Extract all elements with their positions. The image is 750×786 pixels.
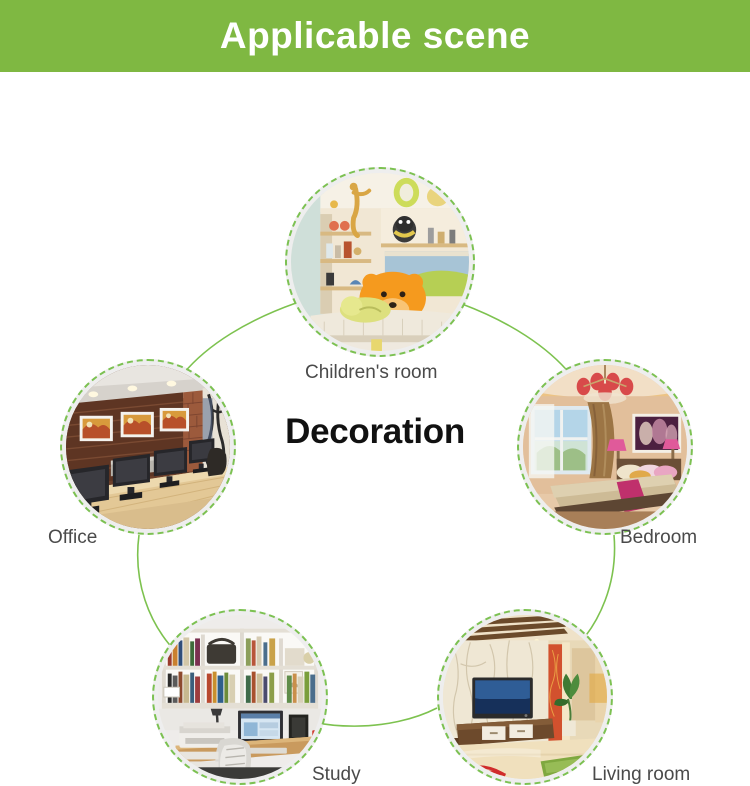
scene-node-children-room[interactable]: [285, 167, 475, 357]
center-label: Decoration: [0, 412, 750, 452]
scene-caption-study: Study: [312, 764, 361, 786]
scene-circle-study[interactable]: [152, 609, 328, 785]
scene-circle-living-room[interactable]: [437, 609, 613, 785]
header-banner: Applicable scene: [0, 0, 750, 72]
scene-circle-children-room[interactable]: [285, 167, 475, 357]
diagram-stage: Children's room: [0, 72, 750, 750]
scene-caption-bedroom: Bedroom: [620, 527, 697, 549]
scene-caption-living-room: Living room: [592, 764, 690, 786]
scene-node-study[interactable]: [152, 609, 328, 785]
page-title: Applicable scene: [220, 15, 530, 57]
photo-living-room: [443, 615, 607, 779]
scene-caption-children-room: Children's room: [305, 362, 437, 384]
photo-children-room: [291, 173, 469, 351]
scene-caption-office: Office: [48, 527, 97, 549]
scene-node-living-room[interactable]: [437, 609, 613, 785]
photo-study: [158, 615, 322, 779]
